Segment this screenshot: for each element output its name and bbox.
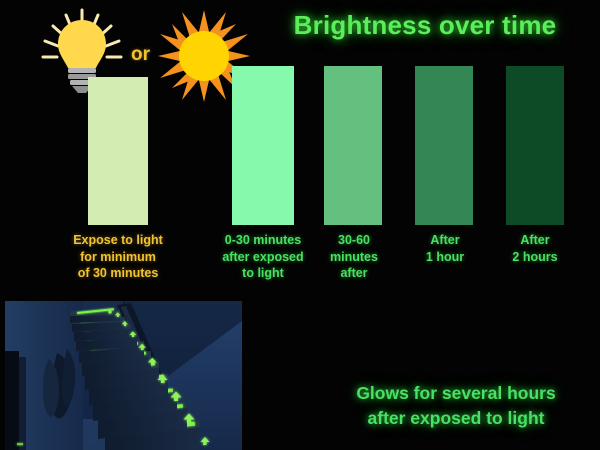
bar-0-30-minutes [232,66,294,225]
footer-note: Glows for several hours after exposed to… [318,381,594,432]
stairs-photo [5,301,242,450]
bar-after-1-hour [415,66,473,225]
bar-30-60-minutes [324,66,382,225]
bar-caption-after-2-hours: After 2 hours [479,232,591,265]
bar-charging [88,77,148,225]
glow-brightness-infographic: Brightness over time [0,0,600,450]
page-title: Brightness over time [255,10,595,41]
bar-caption-charging: Expose to light for minimum of 30 minute… [48,232,188,282]
or-label: or [131,44,150,66]
bar-after-2-hours [506,66,564,225]
